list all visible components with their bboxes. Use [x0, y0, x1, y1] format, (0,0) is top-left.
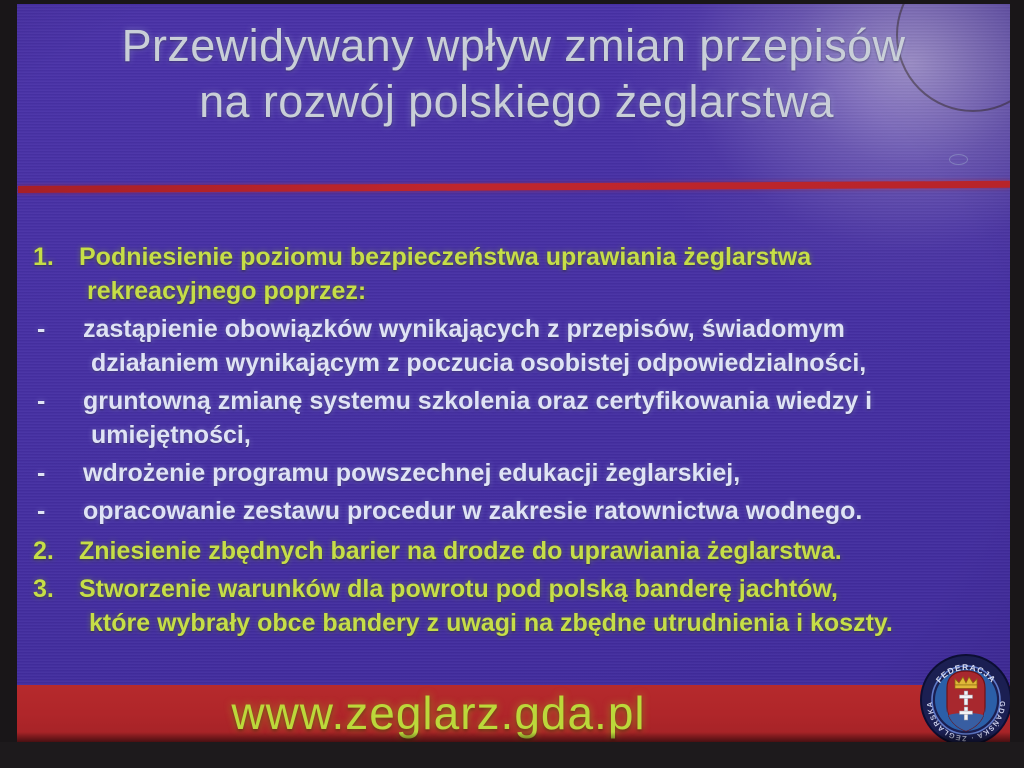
- list-item-text: opracowanie zestawu procedur w zakresie …: [83, 494, 986, 528]
- list-item-text: które wybrały obce bandery z uwagi na zb…: [79, 606, 986, 640]
- photo-frame-left: [0, 0, 17, 768]
- list-item: - gruntowną zmianę systemu szkolenia ora…: [17, 384, 1010, 418]
- list-item: - zastąpienie obowiązków wynikających z …: [17, 312, 1010, 346]
- list-item-marker: -: [33, 494, 83, 528]
- list-item-text: Zniesienie zbędnych barier na drodze do …: [79, 534, 986, 568]
- list-item-text: gruntowną zmianę systemu szkolenia oraz …: [83, 384, 986, 418]
- list-item: - opracowanie zestawu procedur w zakresi…: [17, 494, 1010, 528]
- lens-flare-dot-icon: [949, 154, 968, 165]
- list-item-text: Stworzenie warunków dla powrotu pod pols…: [79, 572, 986, 606]
- list-item: 1. Podniesienie poziomu bezpieczeństwa u…: [17, 240, 1010, 274]
- photo-frame-bottom: [0, 742, 1024, 768]
- projected-slide: Przewidywany wpływ zmian przepisów na ro…: [17, 4, 1010, 742]
- gdanska-federacja-zeglarska-emblem-icon: FEDERACJA GDAŃSKA · ŻEGLARSKA: [920, 654, 1010, 742]
- title-line-2: na rozwój polskiego żeglarstwa: [17, 74, 1010, 130]
- list-item-marker: -: [33, 312, 83, 346]
- slide-photo-stage: Przewidywany wpływ zmian przepisów na ro…: [0, 0, 1024, 768]
- list-item: rekreacyjnego poprzez:: [17, 274, 1010, 308]
- list-item: - wdrożenie programu powszechnej edukacj…: [17, 456, 1010, 490]
- list-item: 2. Zniesienie zbędnych barier na drodze …: [17, 534, 1010, 568]
- title-divider-rule: [18, 181, 1010, 193]
- list-item: 3. Stworzenie warunków dla powrotu pod p…: [17, 572, 1010, 606]
- list-item-text: rekreacyjnego poprzez:: [79, 274, 986, 308]
- slide-title: Przewidywany wpływ zmian przepisów na ro…: [17, 18, 1010, 130]
- photo-frame-right: [1010, 0, 1024, 768]
- list-item: które wybrały obce bandery z uwagi na zb…: [17, 606, 1010, 640]
- list-item-marker: 3.: [33, 572, 79, 606]
- footer-website-url: www.zeglarz.gda.pl: [17, 685, 1010, 742]
- list-item-text: zastąpienie obowiązków wynikających z pr…: [83, 312, 986, 346]
- title-line-1: Przewidywany wpływ zmian przepisów: [17, 18, 1010, 74]
- list-item-marker: -: [33, 384, 83, 418]
- list-item: działaniem wynikającym z poczucia osobis…: [17, 346, 1010, 380]
- list-item-text: Podniesienie poziomu bezpieczeństwa upra…: [79, 240, 986, 274]
- list-item-marker: 2.: [33, 534, 79, 568]
- list-item-marker: -: [33, 456, 83, 490]
- list-item-text: umiejętności,: [83, 418, 986, 452]
- list-item-text: działaniem wynikającym z poczucia osobis…: [83, 346, 986, 380]
- list-item-text: wdrożenie programu powszechnej edukacji …: [83, 456, 986, 490]
- federation-logo: FEDERACJA GDAŃSKA · ŻEGLARSKA: [920, 654, 1010, 742]
- list-item: umiejętności,: [17, 418, 1010, 452]
- slide-body-list: 1. Podniesienie poziomu bezpieczeństwa u…: [17, 240, 1010, 640]
- list-item-marker: 1.: [33, 240, 79, 274]
